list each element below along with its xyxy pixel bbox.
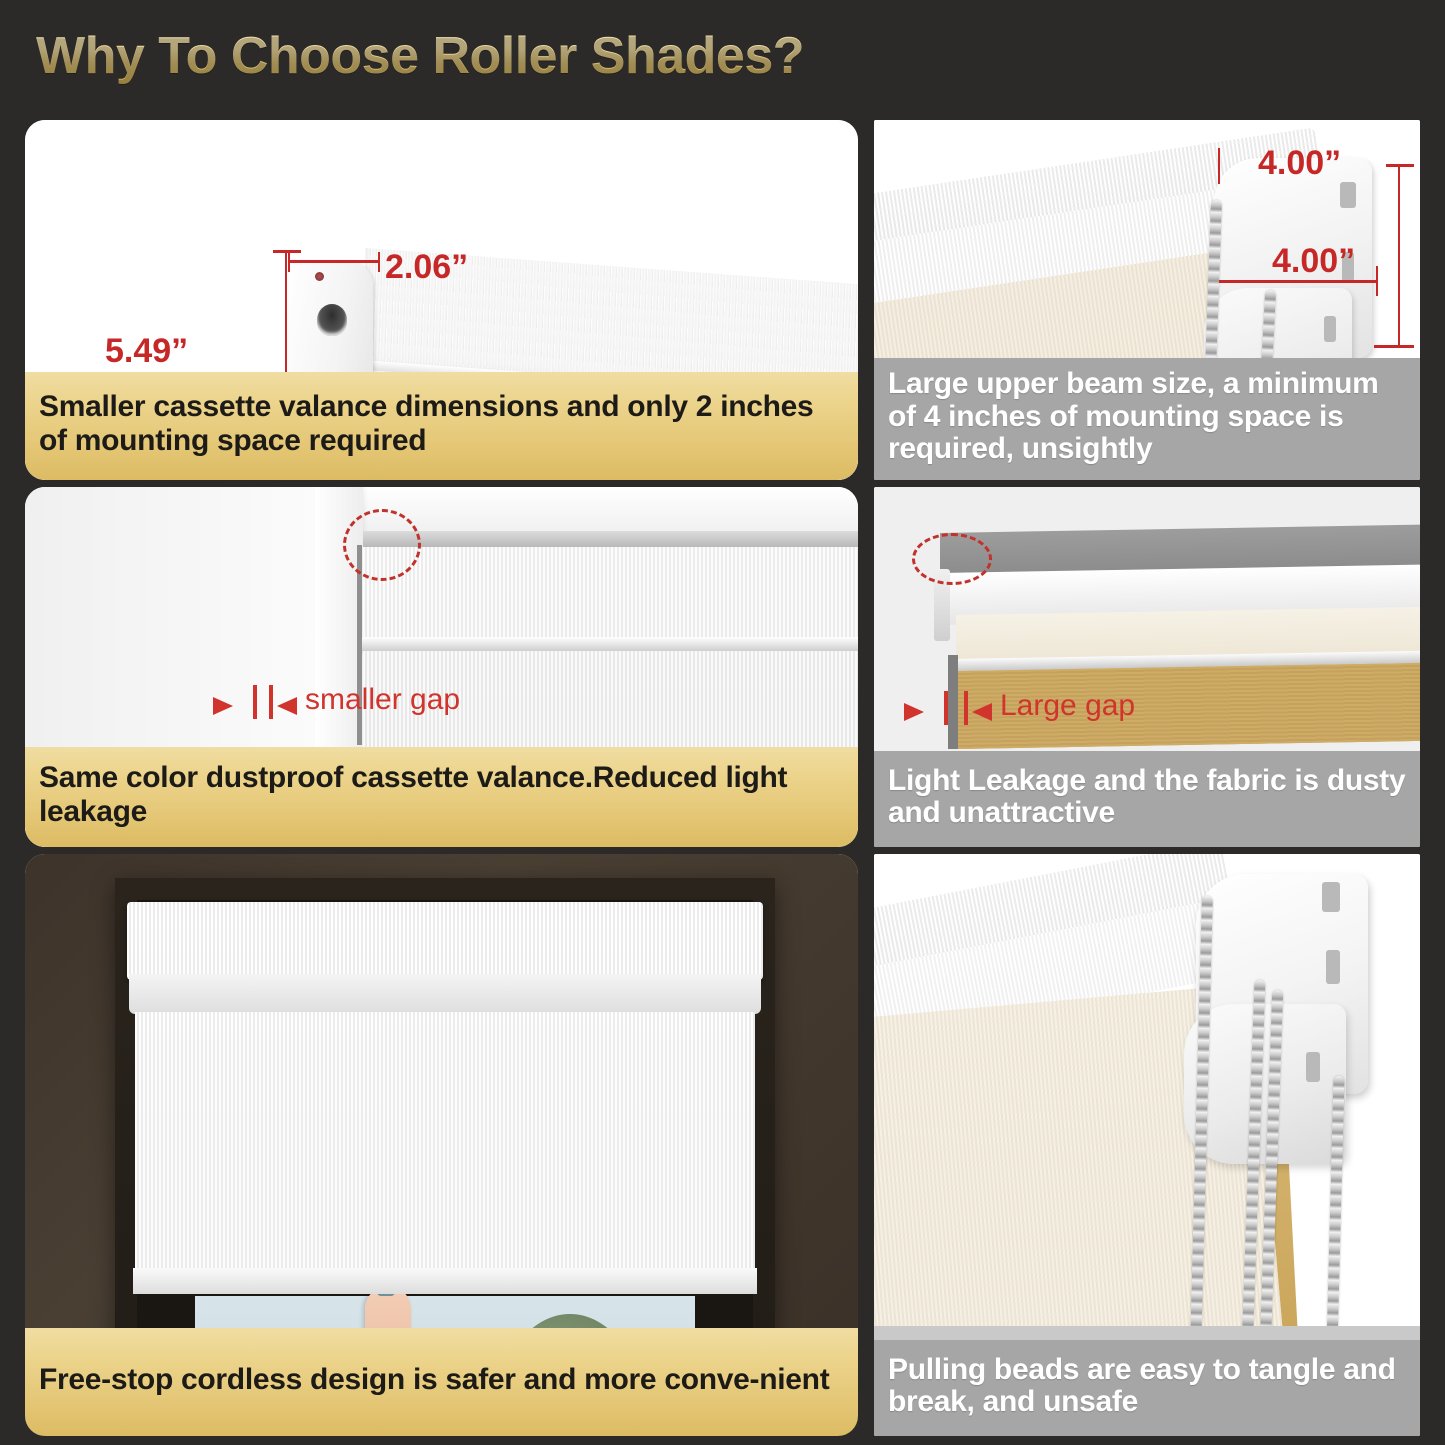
caption-bottom-left: Free-stop cordless design is safer and m…: [25, 1328, 858, 1436]
panel-middle-left: smaller gap Same color dustproof cassett…: [25, 487, 858, 847]
highlight-ellipse-gap: [912, 533, 992, 585]
dimension-label-height: 5.49”: [105, 332, 188, 371]
caption-middle-right: Light Leakage and the fabric is dusty an…: [874, 751, 1420, 847]
gap-label-large: Large gap: [1000, 689, 1135, 723]
panel-bottom-right: Pulling beads are easy to tangle and bre…: [874, 854, 1420, 1436]
panel-bottom-left: Free-stop cordless design is safer and m…: [25, 854, 858, 1436]
gap-label-smaller: smaller gap: [305, 683, 460, 717]
panel-middle-right: Large gap Light Leakage and the fabric i…: [874, 487, 1420, 847]
caption-top-right: Large upper beam size, a minimum of 4 in…: [874, 358, 1420, 480]
page-header: Why To Choose Roller Shades?: [0, 0, 1445, 112]
panel-top-right: 4.00” 4.00” Large upper beam size, a min…: [874, 120, 1420, 480]
comparison-grid: 2.06” 5.49” Smaller cassette valance dim…: [0, 112, 1445, 1445]
panel-top-left: 2.06” 5.49” Smaller cassette valance dim…: [25, 120, 858, 480]
caption-middle-left: Same color dustproof cassette valance.Re…: [25, 747, 858, 847]
dimension-label-width: 2.06”: [385, 248, 468, 287]
caption-bottom-right: Pulling beads are easy to tangle and bre…: [874, 1340, 1420, 1436]
dimension-label-beam-width: 4.00”: [1258, 144, 1341, 183]
caption-top-left: Smaller cassette valance dimensions and …: [25, 372, 858, 480]
page-title: Why To Choose Roller Shades?: [36, 26, 804, 86]
dimension-label-beam-height: 4.00”: [1272, 242, 1355, 281]
highlight-ellipse-seam: [343, 509, 421, 581]
